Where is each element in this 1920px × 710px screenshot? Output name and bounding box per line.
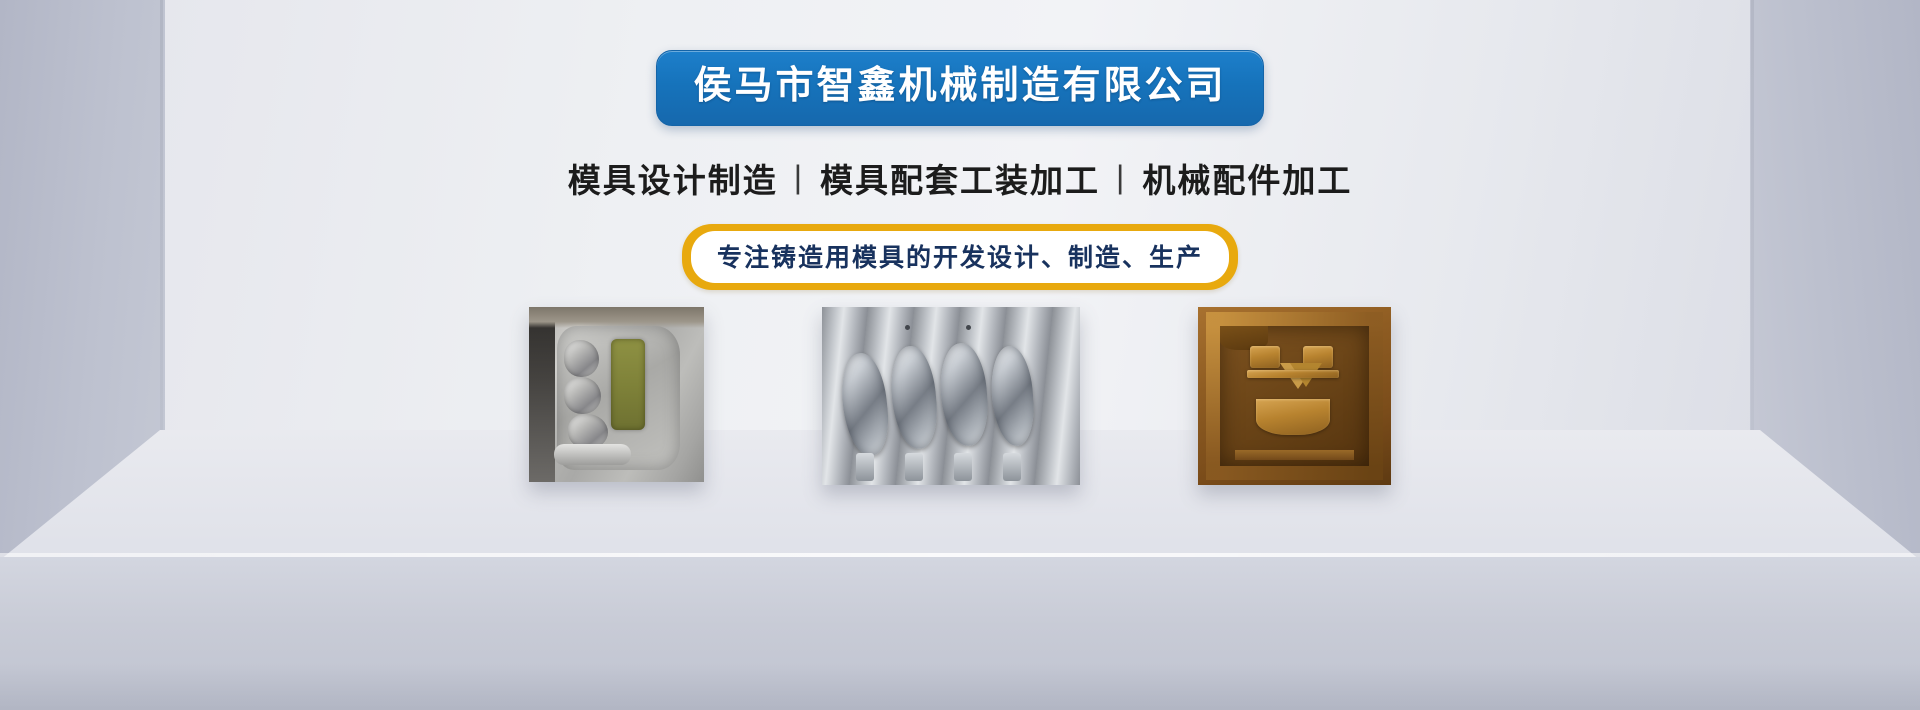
banner-content: 侯马市智鑫机械制造有限公司 模具设计制造 | 模具配套工装加工 | 机械配件加工… xyxy=(0,0,1920,710)
promo-banner: 侯马市智鑫机械制造有限公司 模具设计制造 | 模具配套工装加工 | 机械配件加工… xyxy=(0,0,1920,710)
service-item-2: 模具配套工装加工 xyxy=(820,154,1100,202)
tagline-inner: 专注铸造用模具的开发设计、制造、生产 xyxy=(691,231,1229,283)
company-title-pill: 侯马市智鑫机械制造有限公司 xyxy=(656,50,1263,126)
company-title-wrap: 侯马市智鑫机械制造有限公司 xyxy=(656,50,1263,126)
service-separator: | xyxy=(794,159,804,196)
company-title-text: 侯马市智鑫机械制造有限公司 xyxy=(693,63,1226,111)
tagline-wrap: 专注铸造用模具的开发设计、制造、生产 xyxy=(682,224,1238,290)
service-item-1: 模具设计制造 xyxy=(568,154,778,202)
tagline-pill: 专注铸造用模具的开发设计、制造、生产 xyxy=(682,224,1238,290)
service-separator: | xyxy=(1116,159,1126,196)
tagline-text: 专注铸造用模具的开发设计、制造、生产 xyxy=(717,244,1203,272)
services-line: 模具设计制造 | 模具配套工装加工 | 机械配件加工 xyxy=(568,154,1353,202)
service-item-3: 机械配件加工 xyxy=(1142,154,1352,202)
